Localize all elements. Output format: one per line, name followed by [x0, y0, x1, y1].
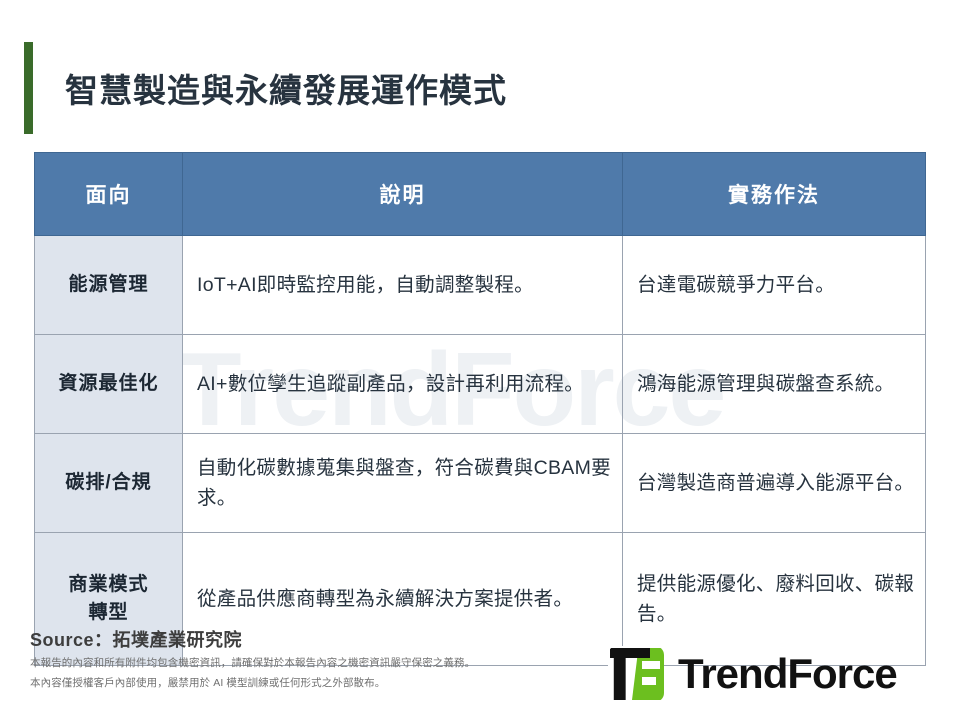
- row-practice-resource-optimization: 鴻海能源管理與碳盤查系統。: [623, 335, 926, 434]
- table-row: 碳排/合規 自動化碳數據蒐集與盤查，符合碳費與CBAM要求。 台灣製造商普遍導入…: [35, 434, 926, 533]
- column-header-aspect: 面向: [35, 153, 183, 236]
- disclaimer-line-2: 本內容僅授權客戶內部使用，嚴禁用於 AI 模型訓練或任何形式之外部散布。: [30, 674, 475, 694]
- disclaimer-line-1: 本報告的內容和所有附件均包含機密資訊，請確保對於本報告內容之機密資訊嚴守保密之義…: [30, 654, 475, 674]
- content-table: 面向 說明 實務作法 能源管理 IoT+AI即時監控用能，自動調整製程。 台達電…: [34, 152, 926, 666]
- column-header-practice: 實務作法: [623, 153, 926, 236]
- page-title-block: 智慧製造與永續發展運作模式: [24, 42, 507, 134]
- row-description-resource-optimization: AI+數位孿生追蹤副產品，設計再利用流程。: [183, 335, 623, 434]
- table-row: 能源管理 IoT+AI即時監控用能，自動調整製程。 台達電碳競爭力平台。: [35, 236, 926, 335]
- row-practice-carbon-compliance: 台灣製造商普遍導入能源平台。: [623, 434, 926, 533]
- trendforce-logo-text: TrendForce: [678, 653, 897, 695]
- table-header-row: 面向 說明 實務作法: [35, 153, 926, 236]
- row-label-carbon-compliance: 碳排/合規: [35, 434, 183, 533]
- row-label-energy-management: 能源管理: [35, 236, 183, 335]
- row-practice-energy-management: 台達電碳競爭力平台。: [623, 236, 926, 335]
- disclaimer-block: 本報告的內容和所有附件均包含機密資訊，請確保對於本報告內容之機密資訊嚴守保密之義…: [30, 654, 475, 694]
- slide-canvas: TrendForce 智慧製造與永續發展運作模式 面向 說明 實務作法 能源管理…: [0, 0, 960, 720]
- column-header-description: 說明: [183, 153, 623, 236]
- page-title: 智慧製造與永續發展運作模式: [65, 64, 507, 112]
- table-row: 資源最佳化 AI+數位孿生追蹤副產品，設計再利用流程。 鴻海能源管理與碳盤查系統…: [35, 335, 926, 434]
- source-label: Source：拓墣產業研究院: [30, 626, 242, 652]
- row-description-energy-management: IoT+AI即時監控用能，自動調整製程。: [183, 236, 623, 335]
- trendforce-logo-icon: [608, 646, 664, 702]
- title-accent-bar: [24, 42, 33, 134]
- row-label-resource-optimization: 資源最佳化: [35, 335, 183, 434]
- row-description-carbon-compliance: 自動化碳數據蒐集與盤查，符合碳費與CBAM要求。: [183, 434, 623, 533]
- content-table-wrapper: 面向 說明 實務作法 能源管理 IoT+AI即時監控用能，自動調整製程。 台達電…: [34, 152, 925, 610]
- row-description-business-model-transformation: 從產品供應商轉型為永續解決方案提供者。: [183, 533, 623, 666]
- trendforce-logo: TrendForce: [608, 645, 897, 703]
